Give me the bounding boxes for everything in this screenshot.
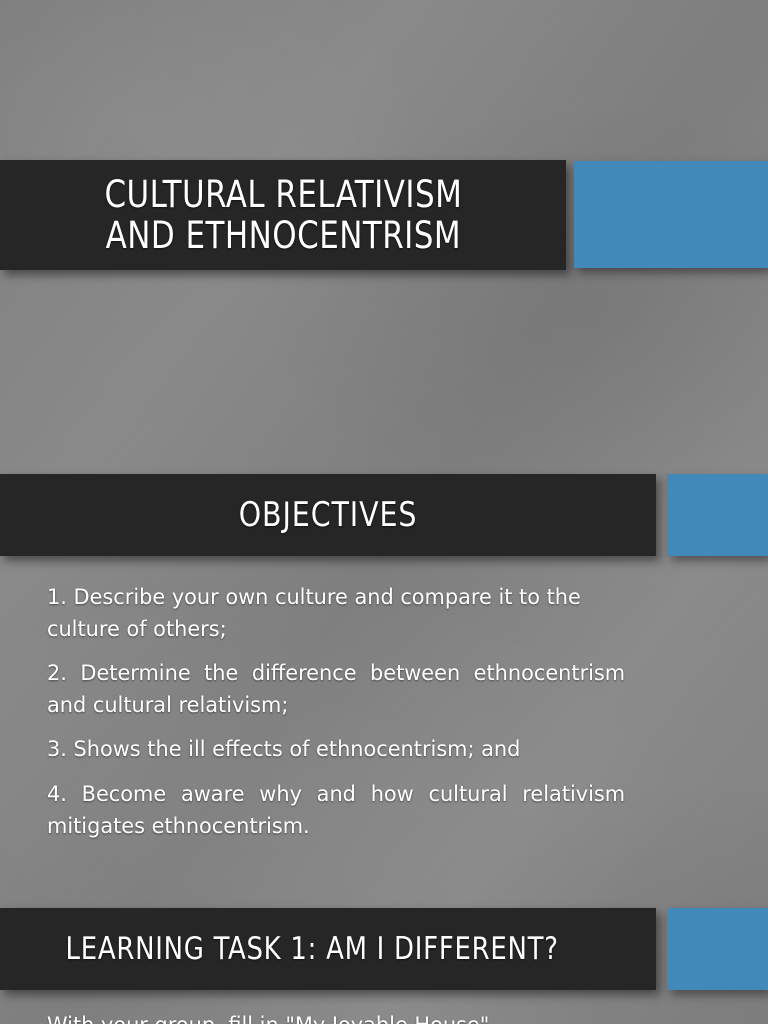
page-title: CULTURAL RELATIVISM AND ETHNOCENTRISM <box>104 174 462 257</box>
objectives-heading-bar: OBJECTIVES <box>0 474 656 556</box>
title-bar: CULTURAL RELATIVISM AND ETHNOCENTRISM <box>0 160 566 270</box>
learning-task-item-1: With your group, fill in "My Joyable Hou… <box>47 1010 625 1024</box>
objectives-heading: OBJECTIVES <box>239 496 418 534</box>
slide-deck-page: CULTURAL RELATIVISM AND ETHNOCENTRISM OB… <box>0 0 768 1024</box>
learning-task-body: With your group, fill in "My Joyable Hou… <box>47 1010 625 1024</box>
objective-item-2: 2. Determine the difference between ethn… <box>47 658 625 721</box>
objective-item-4: 4. Become aware why and how cultural rel… <box>47 779 625 842</box>
objectives-accent-block <box>667 474 768 556</box>
learning-task-heading: LEARNING TASK 1: AM I DIFFERENT? <box>66 932 559 967</box>
learning-task-heading-bar: LEARNING TASK 1: AM I DIFFERENT? <box>0 908 656 990</box>
title-accent-block <box>574 161 768 268</box>
objective-item-1: 1. Describe your own culture and compare… <box>47 582 625 645</box>
learning-task-accent-block <box>667 908 768 990</box>
objectives-list: 1. Describe your own culture and compare… <box>47 582 625 855</box>
objective-item-3: 3. Shows the ill effects of ethnocentris… <box>47 734 625 766</box>
